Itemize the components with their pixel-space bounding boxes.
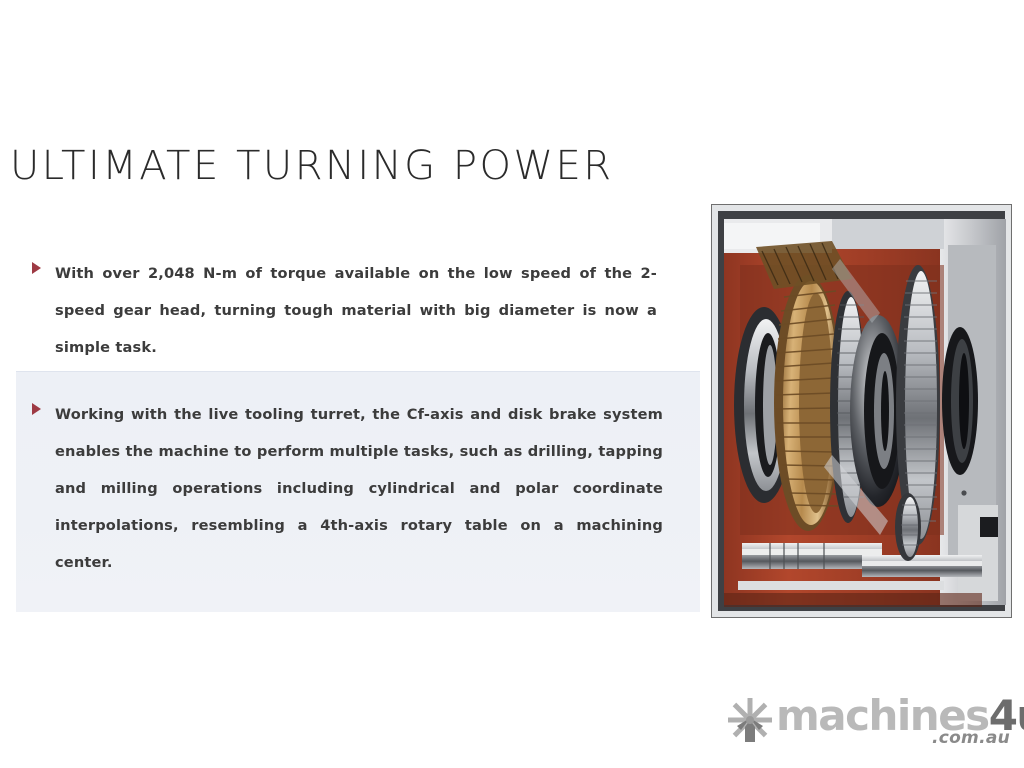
page-title: ULTIMATE TURNING POWER bbox=[10, 144, 614, 188]
starburst-icon bbox=[726, 696, 774, 744]
triangle-right-icon bbox=[32, 403, 41, 415]
bullet-text-2: Working with the live tooling turret, th… bbox=[55, 396, 663, 581]
bullet-item-2: Working with the live tooling turret, th… bbox=[32, 396, 664, 581]
gear-head-illustration bbox=[712, 205, 1011, 617]
bullet-item-1: With over 2,048 N-m of torque available … bbox=[32, 255, 657, 366]
gear-head-photo bbox=[711, 204, 1012, 618]
bullet-text-1: With over 2,048 N-m of torque available … bbox=[55, 255, 657, 366]
triangle-right-icon bbox=[32, 262, 41, 274]
watermark: machines4u .com.au bbox=[726, 694, 1010, 748]
slide-canvas: ULTIMATE TURNING POWER With over 2,048 N… bbox=[0, 0, 1024, 768]
watermark-tld: .com.au bbox=[932, 728, 1010, 748]
